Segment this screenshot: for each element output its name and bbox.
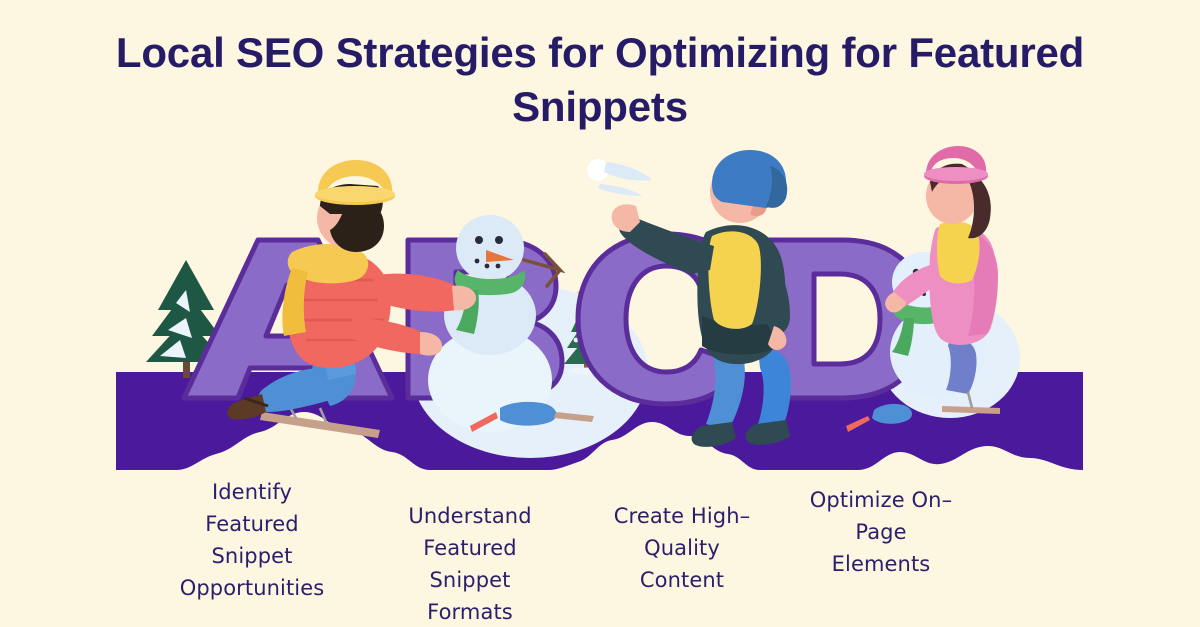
caption-understand-featured-snippet-formats: Understand Featured Snippet Formats — [388, 500, 552, 627]
snowball-in-air-icon — [587, 159, 652, 196]
caption-identify-featured-snippet-opportunities: Identify Featured Snippet Opportunities — [152, 476, 352, 604]
page-title: Local SEO Strategies for Optimizing for … — [50, 26, 1150, 134]
caption-create-high-quality-content: Create High– Quality Content — [592, 500, 772, 596]
caption-optimize-on-page-elements: Optimize On– Page Elements — [788, 484, 974, 580]
infographic-canvas: Local SEO Strategies for Optimizing for … — [0, 0, 1200, 627]
winter-abcd-illustration — [0, 140, 1200, 480]
